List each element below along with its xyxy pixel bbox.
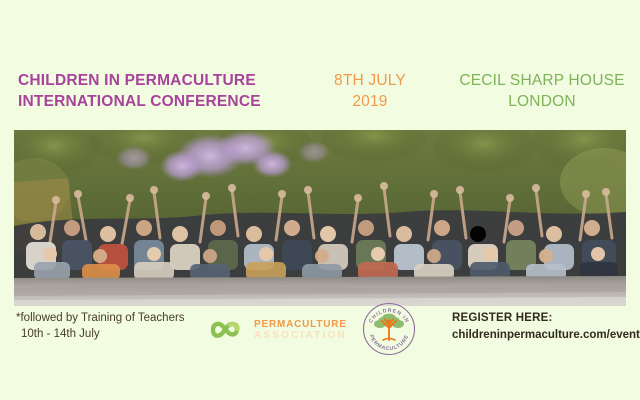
event-venue: CECIL SHARP HOUSE LONDON — [456, 70, 628, 112]
event-venue-city: LONDON — [456, 91, 628, 112]
event-title-line-1: CHILDREN IN PERMACULTURE — [18, 70, 308, 91]
poster-header: CHILDREN IN PERMACULTURE INTERNATIONAL C… — [0, 70, 640, 122]
permaculture-association-wordmark: PERMACULTURE ASSOCIATION — [254, 319, 347, 341]
event-date: 8TH JULY 2019 — [310, 70, 430, 112]
permaculture-association-logo: PERMACULTURE ASSOCIATION — [200, 314, 322, 346]
children-in-permaculture-logo: CHILDREN IN PERMACULTURE — [362, 302, 416, 356]
training-note: *followed by Training of Teachers 10th -… — [16, 310, 185, 342]
group-photo — [14, 130, 626, 306]
event-poster: CHILDREN IN PERMACULTURE INTERNATIONAL C… — [0, 0, 640, 400]
event-date-day: 8TH JULY — [310, 70, 430, 91]
register-info: REGISTER HERE: childreninpermaculture.co… — [452, 310, 640, 344]
event-venue-name: CECIL SHARP HOUSE — [456, 70, 628, 91]
register-url[interactable]: childreninpermaculture.com/events — [452, 327, 640, 344]
poster-footer: *followed by Training of Teachers 10th -… — [0, 306, 640, 356]
event-date-year: 2019 — [310, 91, 430, 112]
pa-wordmark-line-1: PERMACULTURE — [254, 319, 347, 330]
infinity-icon — [200, 318, 250, 342]
training-note-line-1: *followed by Training of Teachers — [16, 310, 185, 326]
register-heading: REGISTER HERE: — [452, 310, 640, 327]
group-photo-image — [14, 130, 626, 306]
pa-wordmark-line-2: ASSOCIATION — [254, 330, 347, 341]
training-note-line-2: 10th - 14th July — [16, 326, 185, 342]
event-title-line-2: INTERNATIONAL CONFERENCE — [18, 91, 308, 112]
event-title: CHILDREN IN PERMACULTURE INTERNATIONAL C… — [18, 70, 308, 112]
